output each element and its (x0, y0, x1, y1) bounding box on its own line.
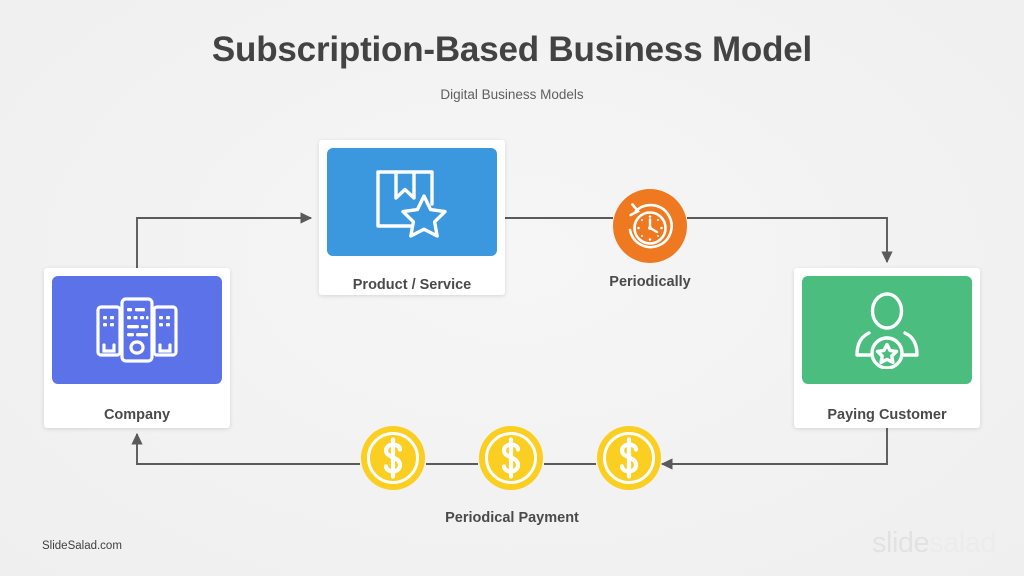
customer-icon-tile (802, 276, 972, 384)
watermark-second: salad (929, 527, 996, 559)
company-label: Company (104, 408, 170, 423)
connector-coins-to-company (137, 434, 360, 464)
payment-coin (596, 425, 662, 491)
page-title: Subscription-Based Business Model (0, 30, 1024, 70)
node-card-product[interactable]: Product / Service (319, 140, 505, 295)
periodic-disc (613, 189, 687, 263)
periodical-payment-label: Periodical Payment (387, 510, 637, 526)
product-icon-tile (327, 148, 497, 256)
page-subtitle: Digital Business Models (0, 87, 1024, 102)
connector-company-to-product (137, 218, 311, 268)
package-star-icon (372, 164, 452, 240)
node-card-company[interactable]: Company (44, 268, 230, 428)
dollar-coin-icon (596, 425, 662, 491)
dollar-coin-icon (360, 425, 426, 491)
footer-brand: SlideSalad.com (42, 540, 122, 552)
watermark-first: slide (872, 527, 929, 559)
connector-customer-to-coins (662, 428, 887, 464)
customer-label: Paying Customer (827, 408, 946, 423)
product-label: Product / Service (353, 278, 471, 293)
dollar-coin-icon (478, 425, 544, 491)
connector-clock-to-customer (687, 218, 887, 262)
periodically-label: Periodically (550, 274, 750, 290)
recurring-clock-icon (621, 197, 679, 255)
payment-coin (478, 425, 544, 491)
company-icon-tile (52, 276, 222, 384)
slide-canvas: Subscription-Based Business Model Digita… (0, 0, 1024, 576)
buildings-icon (94, 295, 180, 365)
payment-coin (360, 425, 426, 491)
user-star-icon (848, 291, 926, 369)
watermark: slidesalad (872, 529, 996, 558)
node-card-customer[interactable]: Paying Customer (794, 268, 980, 428)
periodic-node[interactable] (613, 189, 687, 263)
